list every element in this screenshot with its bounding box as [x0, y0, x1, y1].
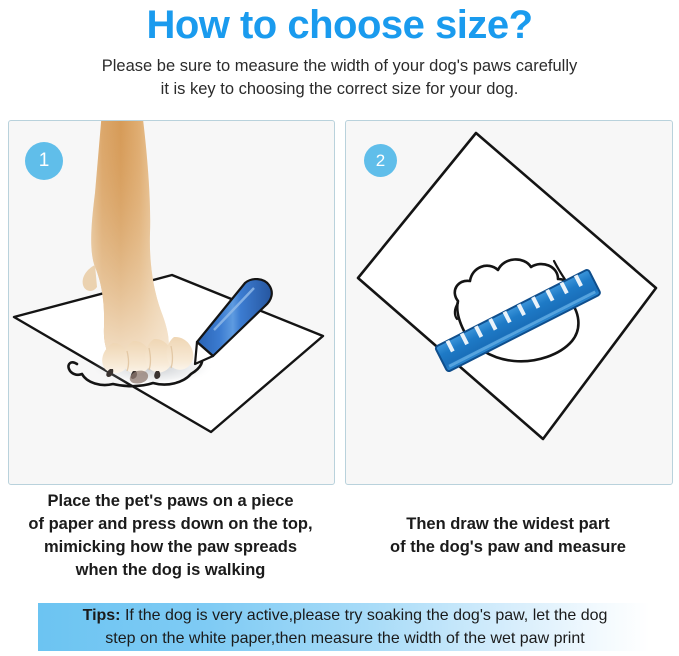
tips-line-2: step on the white paper,then measure the… — [40, 627, 650, 650]
caption-2-line-1: Then draw the widest part — [406, 515, 610, 533]
step-2-badge: 2 — [364, 144, 397, 177]
step-2-caption: Then draw the widest part of the dog's p… — [345, 513, 671, 559]
step-1-badge: 1 — [25, 142, 63, 180]
step-2-panel: 2 — [345, 120, 673, 485]
tips-line-1-text: If the dog is very active,please try soa… — [121, 607, 608, 624]
caption-2-line-2: of the dog's paw and measure — [390, 538, 626, 556]
step-1-caption: Place the pet's paws on a piece of paper… — [8, 490, 333, 582]
subtitle-line-1: Please be sure to measure the width of y… — [102, 57, 578, 75]
caption-1-line-4: when the dog is walking — [76, 561, 266, 579]
tips-text: Tips: If the dog is very active,please t… — [40, 604, 650, 650]
tips-label: Tips: — [83, 607, 121, 624]
step-2-illustration — [346, 121, 672, 484]
subtitle-line-2: it is key to choosing the correct size f… — [161, 80, 519, 98]
caption-1-line-3: mimicking how the paw spreads — [44, 538, 297, 556]
dewclaw — [83, 265, 97, 291]
tips-line-1: Tips: If the dog is very active,please t… — [40, 604, 650, 627]
caption-1-line-2: of paper and press down on the top, — [28, 515, 312, 533]
page-title: How to choose size? — [0, 2, 679, 48]
step-1-panel: 1 — [8, 120, 335, 485]
caption-1-line-1: Place the pet's paws on a piece — [47, 492, 293, 510]
page-subtitle: Please be sure to measure the width of y… — [40, 55, 639, 101]
size-guide-infographic: How to choose size? Please be sure to me… — [0, 0, 679, 656]
step-1-illustration — [9, 121, 334, 484]
